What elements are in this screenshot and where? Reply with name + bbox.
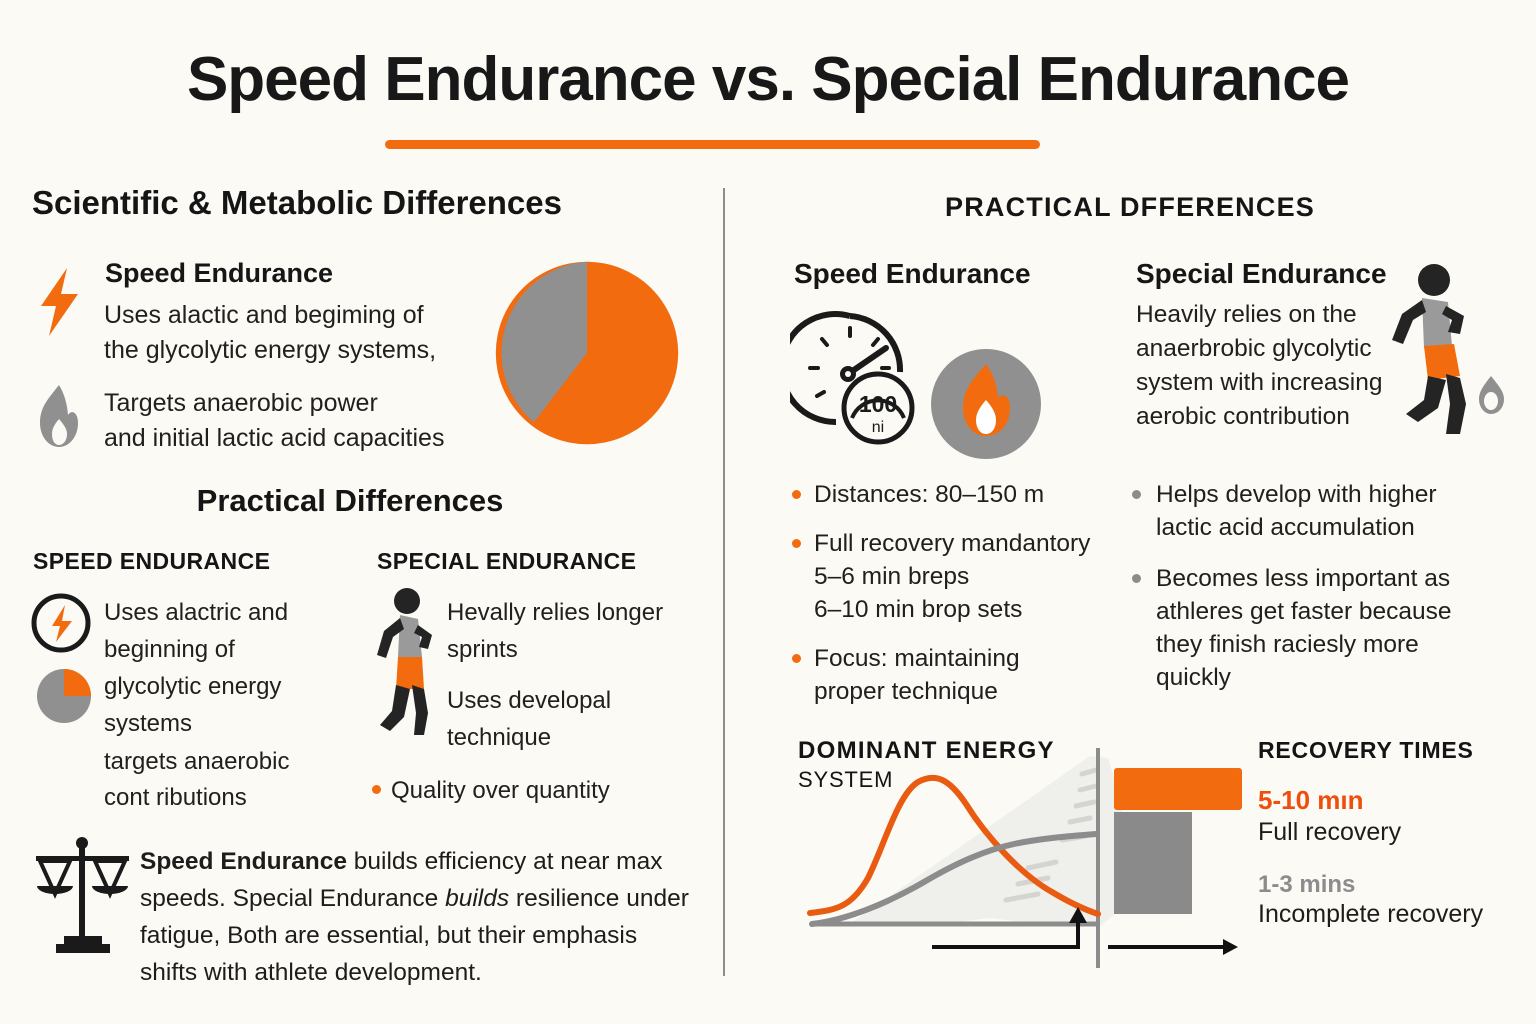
desc-line-1: Uses alactic and begiming of	[104, 301, 424, 329]
flame-icon	[34, 385, 84, 447]
special-endurance-column-label: SPECIAL ENDURANCE	[377, 548, 636, 575]
recovery-primary-value: 5-10 mın	[1258, 785, 1364, 816]
recovery-secondary-value: 1-3 mins	[1258, 871, 1355, 899]
desc-line-3: Targets anaerobic power	[104, 389, 378, 417]
desc-line-2: the glycolytic energy systems,	[104, 336, 436, 364]
recovery-times-heading: RECOVERY TIMES	[1258, 737, 1474, 764]
speed-endurance-column-text-2: targets anaerobic cont ributions	[104, 744, 334, 816]
left-section-heading: Scientific & Metabolic Differences	[32, 184, 562, 222]
running-athlete-icon	[374, 585, 446, 737]
list-item: Distances: 80–150 m	[790, 478, 1120, 511]
bullet-text: Focus: maintaining proper technique	[814, 645, 1020, 705]
small-energy-pie-chart	[36, 668, 92, 724]
recovery-bar-full	[1114, 768, 1242, 810]
bullet-text: Helps develop with higher lactic acid ac…	[1156, 481, 1437, 541]
running-athlete-large-icon	[1390, 258, 1508, 436]
gauge-unit-text: ni	[872, 419, 884, 436]
speed-endurance-column-label: SPEED ENDURANCE	[33, 548, 270, 575]
special-endurance-bullet-list: Helps develop with higher lactic acid ac…	[1130, 478, 1490, 712]
speed-endurance-description: Uses alactic and begiming of the glycoly…	[104, 298, 464, 368]
bullet-text: Full recovery mandantory 5–6 min breps 6…	[814, 530, 1090, 623]
list-item: Focus: maintaining proper technique	[790, 642, 1120, 708]
right-speed-endurance-heading: Speed Endurance	[794, 258, 1031, 290]
timeline-arrows	[920, 895, 1250, 975]
bullet-label: Quality over quantity	[391, 777, 610, 804]
special-endurance-bullet: Quality over quantity	[372, 775, 692, 807]
list-item: Helps develop with higher lactic acid ac…	[1130, 478, 1490, 544]
chart-title-line-1: DOMINANT ENERGY	[798, 737, 1055, 765]
bullet-text: Becomes less important as athleres get f…	[1156, 565, 1452, 691]
summary-paragraph: Speed Endurance builds efficiency at nea…	[140, 843, 695, 991]
energy-contribution-pie-chart	[492, 258, 682, 448]
vertical-divider	[723, 188, 725, 976]
recovery-bar-incomplete	[1114, 812, 1192, 914]
right-special-endurance-heading: Special Endurance	[1136, 258, 1387, 290]
speed-endurance-subheading: Speed Endurance	[105, 258, 333, 289]
bullet-dot-icon	[372, 785, 381, 794]
desc-line-4: and initial lactic acid capacities	[104, 424, 444, 452]
title-underline-rule	[385, 140, 1040, 149]
right-special-endurance-body: Heavily relies on the anaerbrobic glycol…	[1136, 298, 1386, 434]
chart-title-line-2: SYSTEM	[798, 767, 893, 793]
bullet-text: Distances: 80–150 m	[814, 481, 1044, 508]
circled-lightning-bolt-icon	[30, 592, 92, 654]
recovery-primary-label: Full recovery	[1258, 818, 1401, 847]
practical-differences-heading: Practical Differences	[0, 483, 700, 519]
right-section-heading: PRACTICAL DFFERENCES	[724, 192, 1536, 223]
infographic-canvas: Speed Endurance vs. Special Endurance Sc…	[0, 0, 1536, 1024]
list-item: Becomes less important as athleres get f…	[1130, 562, 1490, 694]
speed-value-dial-icon: 100 ni	[840, 370, 916, 446]
summary-italic: builds	[445, 885, 509, 912]
balance-scales-icon	[30, 836, 135, 954]
lightning-bolt-icon	[36, 268, 82, 336]
special-endurance-column-text: Hevally relies longer sprints	[447, 594, 677, 668]
special-endurance-column-text-2: Uses developal technique	[447, 682, 677, 756]
list-item: Full recovery mandantory 5–6 min breps 6…	[790, 527, 1120, 626]
flame-in-circle-icon	[930, 348, 1042, 460]
recovery-secondary-label: Incomplete recovery	[1258, 900, 1483, 929]
speed-endurance-bullet-list: Distances: 80–150 m Full recovery mandan…	[790, 478, 1120, 724]
summary-lead: Speed Endurance	[140, 848, 347, 875]
page-title: Speed Endurance vs. Special Endurance	[0, 44, 1536, 115]
speed-endurance-column-text: Uses alactric and beginning of glycolyti…	[104, 594, 314, 742]
speed-endurance-targets: Targets anaerobic power and initial lact…	[104, 386, 494, 456]
gauge-value-text: 100	[859, 391, 897, 417]
